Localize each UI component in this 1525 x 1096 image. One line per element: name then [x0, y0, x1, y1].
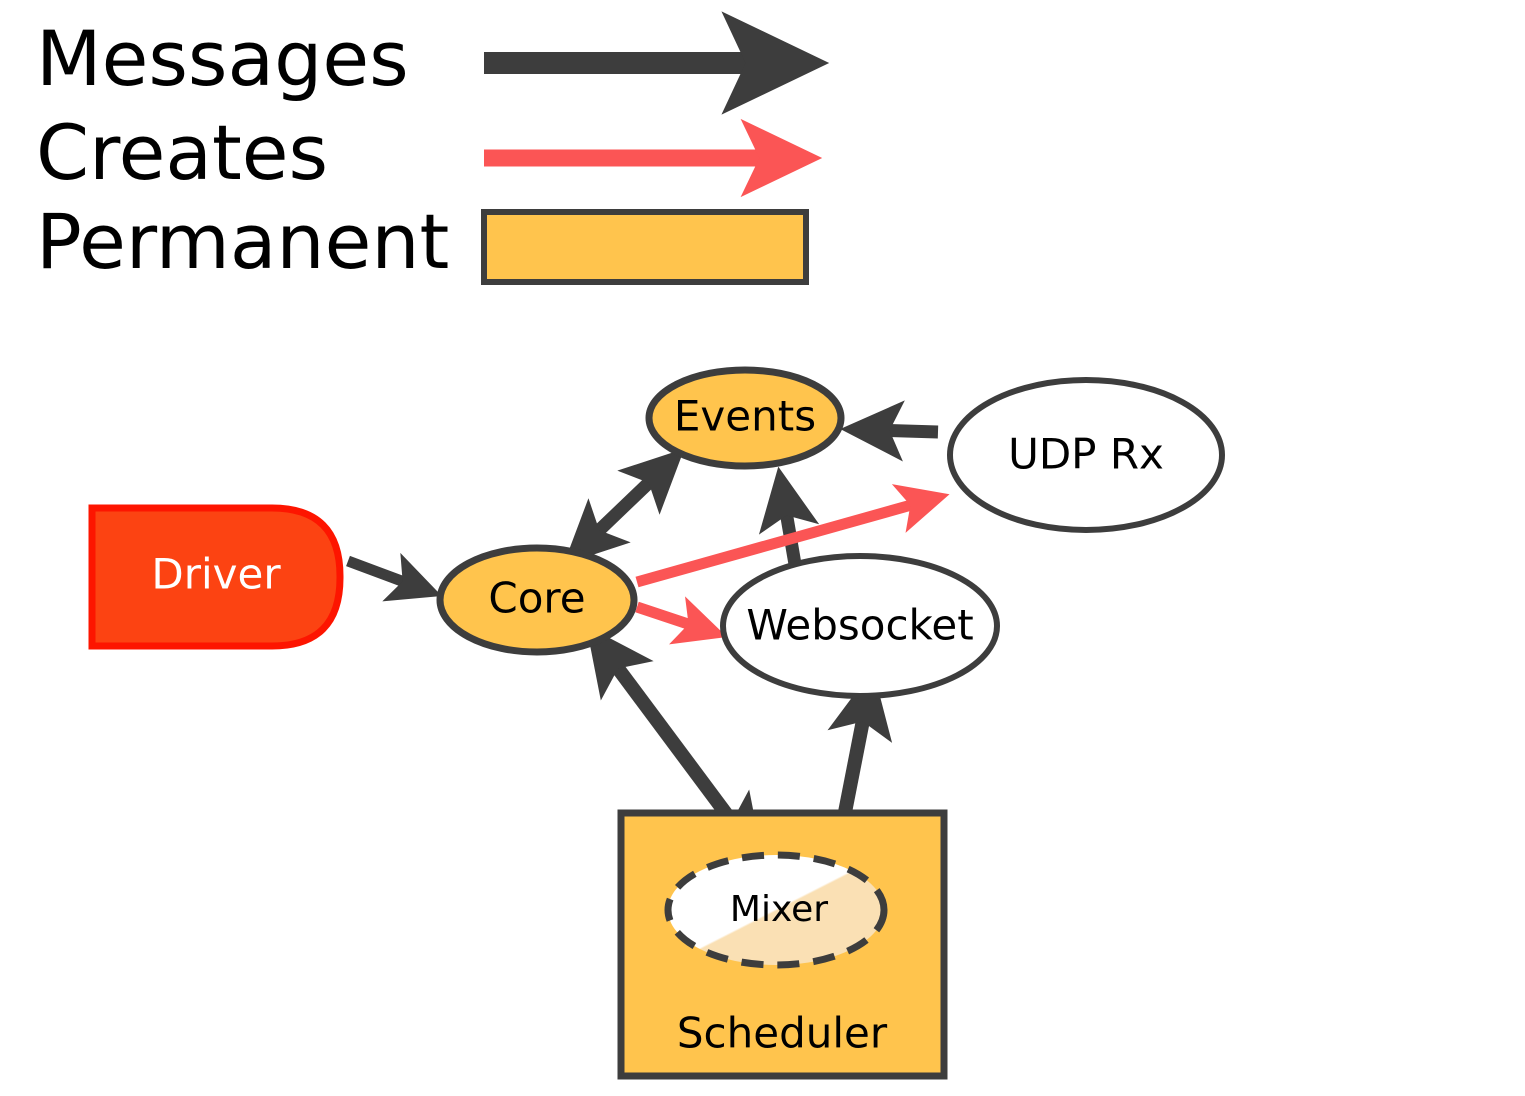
- node-label-mixer: Mixer: [730, 889, 828, 930]
- node-udp-rx[interactable]: UDP Rx: [950, 380, 1222, 530]
- legend-label-messages: Messages: [36, 14, 409, 103]
- legend-label-permanent: Permanent: [36, 197, 449, 286]
- node-label-driver: Driver: [151, 550, 281, 599]
- node-mixer[interactable]: Mixer: [668, 855, 884, 965]
- edge-core-events-bidirectional: [588, 472, 660, 541]
- node-label-events: Events: [674, 392, 816, 441]
- architecture-diagram: Messages Creates Permanent: [0, 0, 1525, 1096]
- legend-row-messages: Messages: [36, 14, 772, 103]
- node-label-scheduler: Scheduler: [677, 1009, 888, 1058]
- node-label-websocket: Websocket: [746, 601, 973, 650]
- node-websocket[interactable]: Websocket: [723, 556, 997, 696]
- edge-udprx-to-events: [874, 430, 938, 432]
- edge-core-creates-websocket: [637, 607, 700, 628]
- legend-label-creates: Creates: [36, 108, 328, 197]
- node-label-core: Core: [488, 574, 585, 623]
- node-driver[interactable]: Driver: [92, 508, 340, 646]
- node-label-udp-rx: UDP Rx: [1008, 430, 1164, 479]
- legend-permanent-swatch: [484, 212, 806, 282]
- node-core[interactable]: Core: [440, 548, 634, 652]
- legend-row-creates: Creates: [36, 108, 778, 197]
- legend: Messages Creates Permanent: [36, 14, 806, 286]
- edge-core-mixer-bidirectional: [608, 655, 742, 835]
- edge-driver-to-core: [348, 561, 415, 586]
- legend-row-permanent: Permanent: [36, 197, 806, 286]
- diagram-canvas: Messages Creates Permanent: [0, 0, 1525, 1096]
- node-events[interactable]: Events: [649, 370, 841, 466]
